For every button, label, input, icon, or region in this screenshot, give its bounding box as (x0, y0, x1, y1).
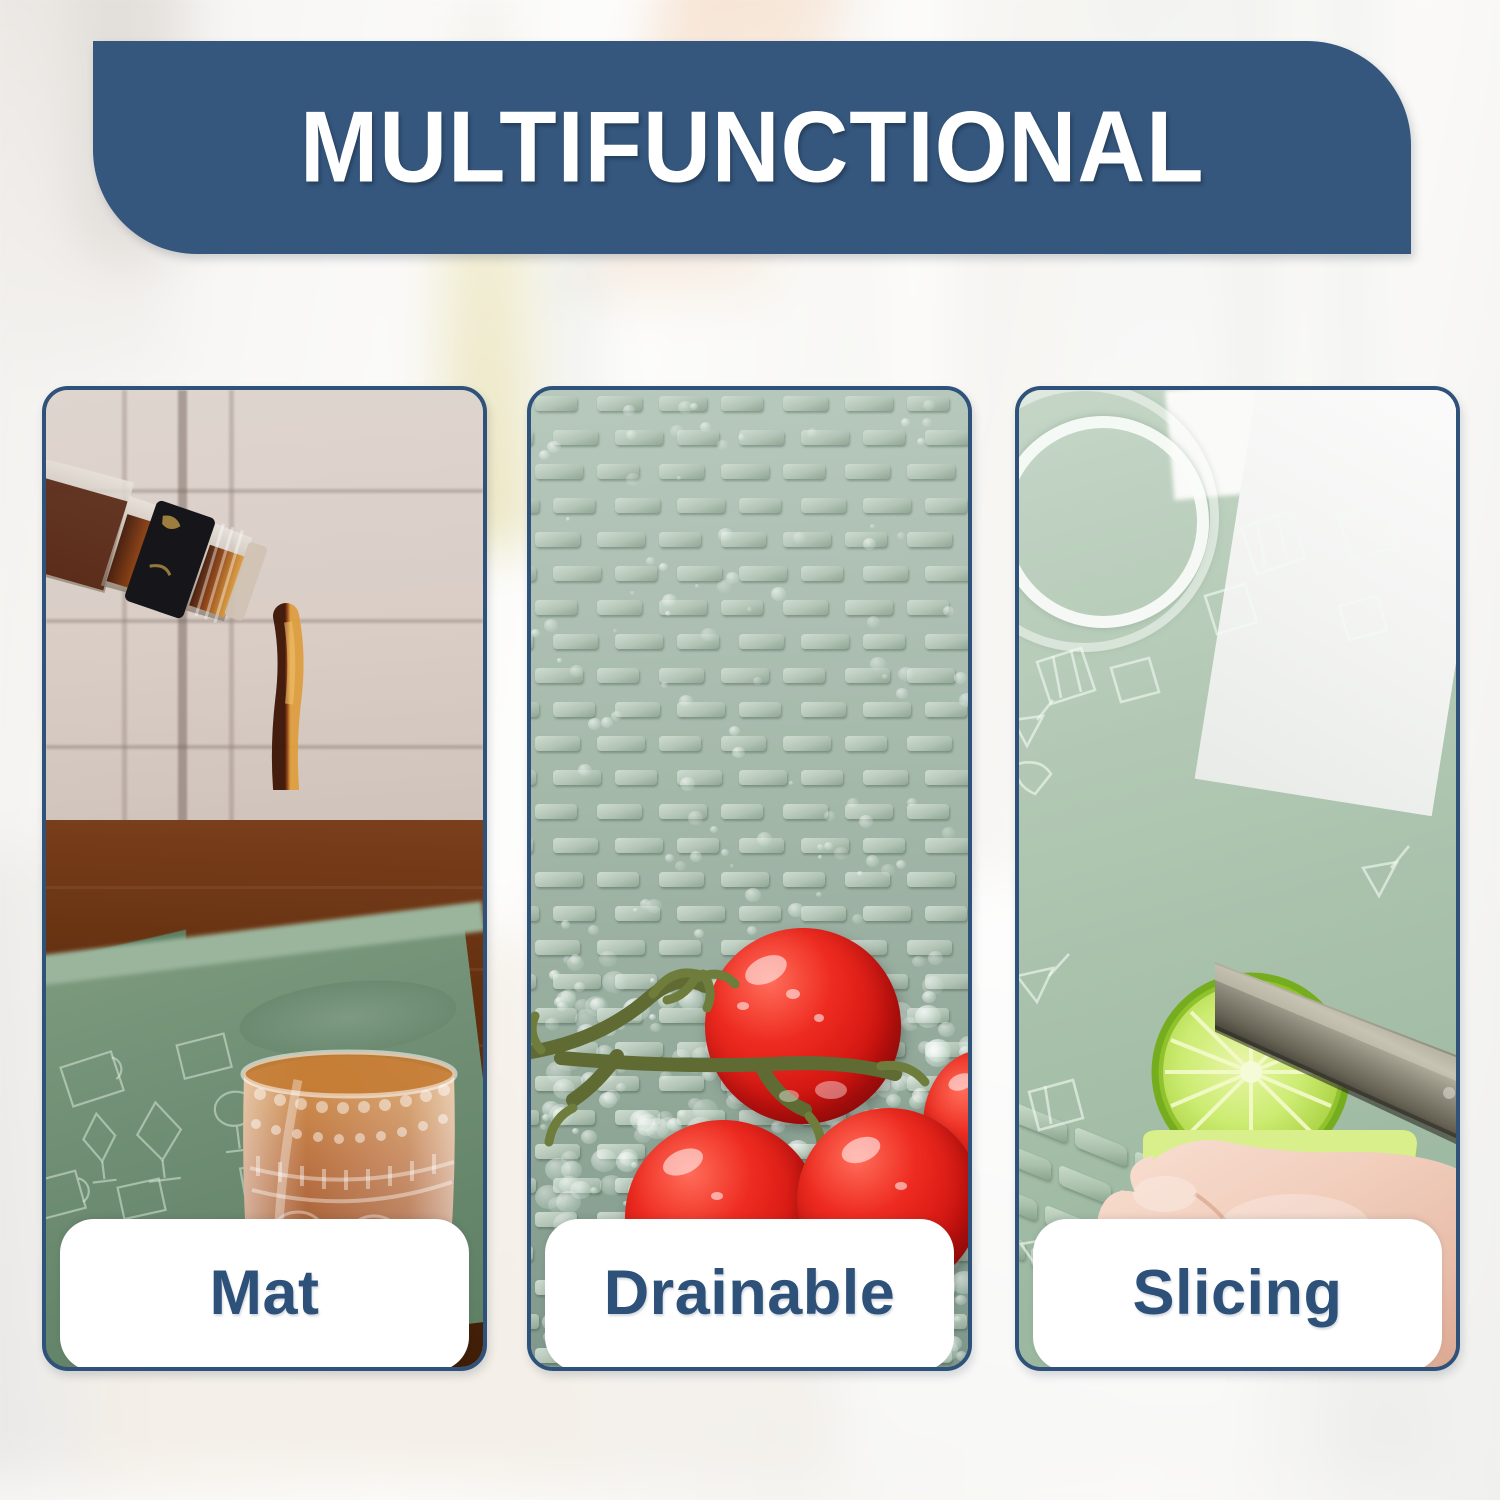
feature-label-plaque-mat: Mat (60, 1219, 469, 1371)
feature-label-plaque-drainable: Drainable (545, 1219, 954, 1371)
feature-card-mat[interactable]: BAR M (42, 386, 487, 1371)
feature-label-slicing: Slicing (1132, 1262, 1342, 1325)
feature-card-drainable[interactable]: Drainable (527, 386, 972, 1371)
page-title-text: MULTIFUNCTIONAL (300, 97, 1204, 198)
feature-label-plaque-slicing: Slicing (1033, 1219, 1442, 1371)
feature-card-slicing[interactable]: Slicing (1015, 386, 1460, 1371)
feature-label-mat: Mat (210, 1262, 320, 1325)
feature-label-drainable: Drainable (604, 1262, 896, 1325)
header-banner: MULTIFUNCTIONAL (93, 41, 1411, 254)
whiskey-bottle (46, 460, 360, 790)
page-title: MULTIFUNCTIONAL (93, 97, 1411, 198)
